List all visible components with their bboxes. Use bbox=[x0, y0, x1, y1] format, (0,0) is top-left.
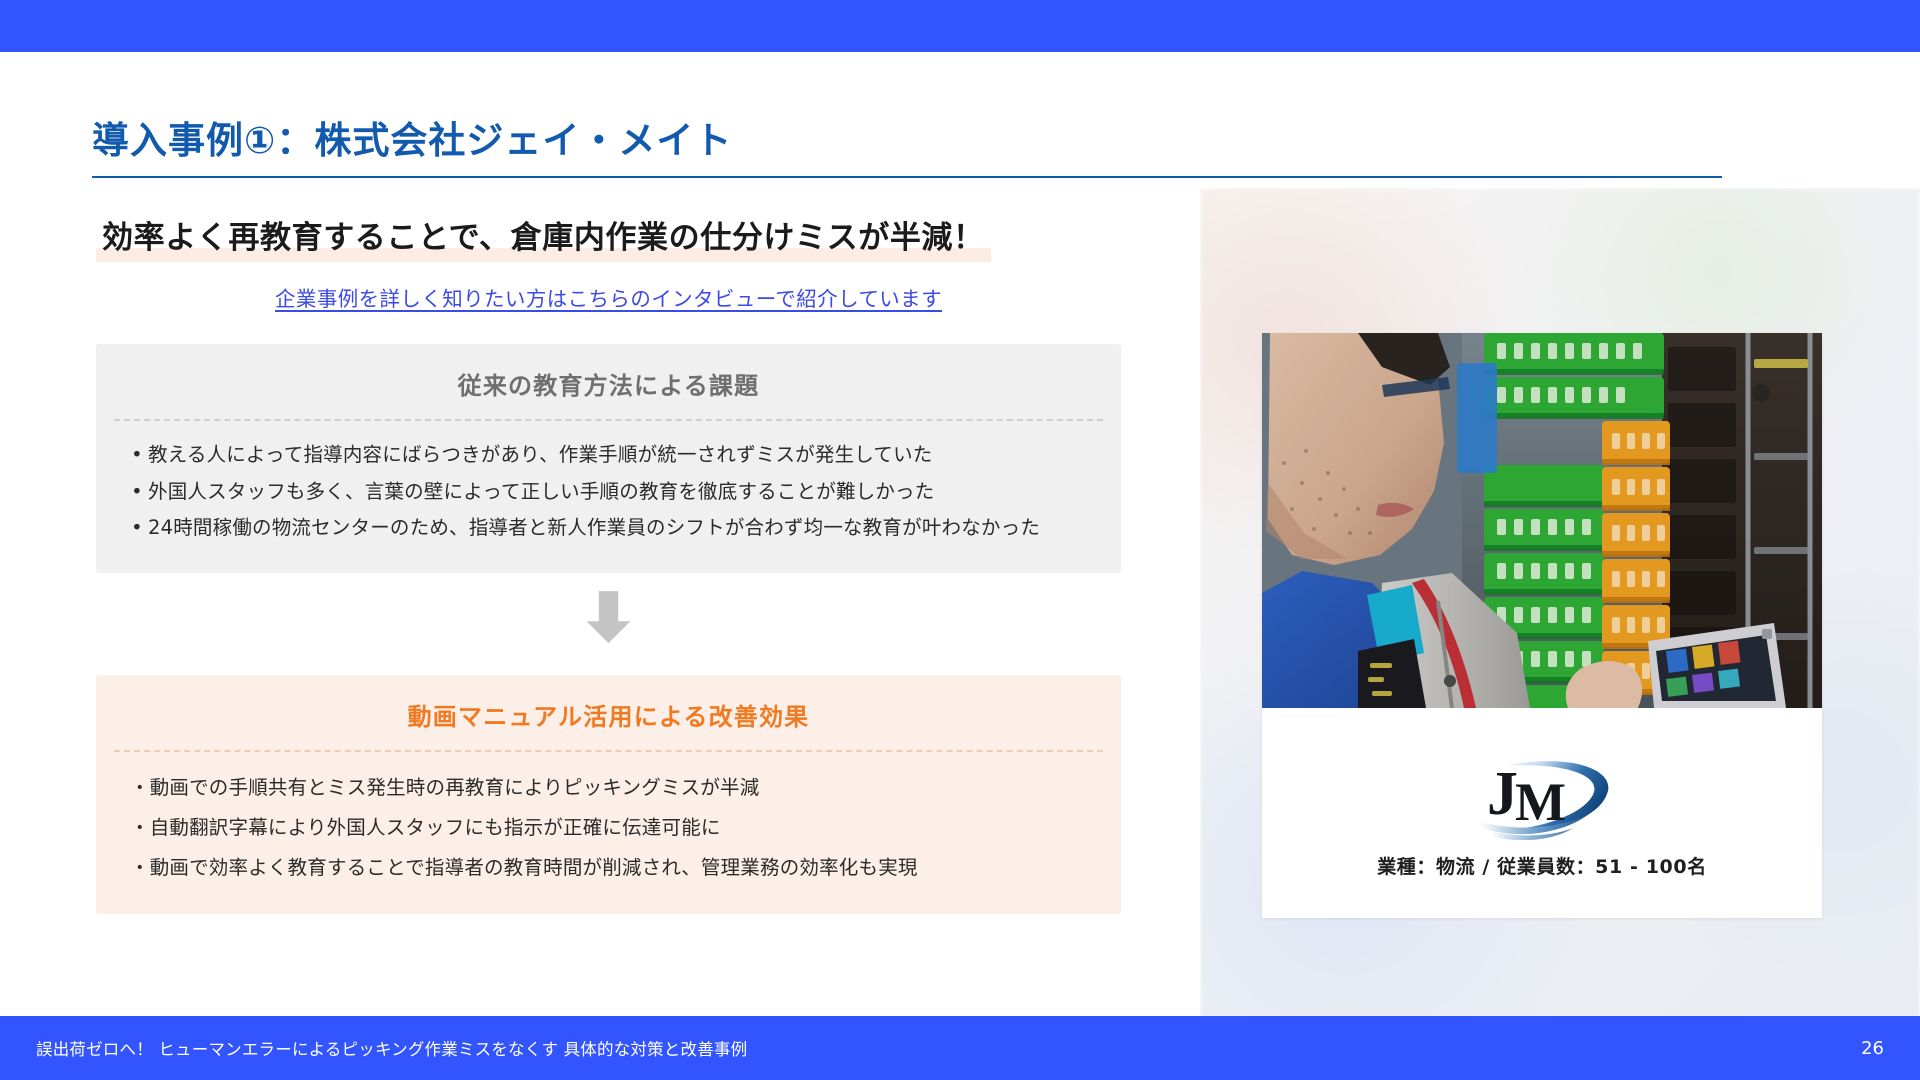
list-item: • 外国人スタッフも多く、言葉の壁によって正しい手順の教育を徹底することが難しか… bbox=[126, 474, 1091, 511]
jm-logo-letter-m: M bbox=[1515, 772, 1566, 832]
jm-logo: J M bbox=[1467, 748, 1617, 840]
company-meta-block: J M 業種：物流 / 従業員数：51 - 100名 bbox=[1262, 708, 1822, 918]
jm-logo-letter-j: J bbox=[1487, 760, 1518, 828]
footer-title: 誤出荷ゼロへ！ ヒューマンエラーによるピッキング作業ミスをなくす 具体的な対策と… bbox=[36, 1036, 747, 1060]
title-underline-rule bbox=[92, 176, 1722, 178]
list-item: • 24時間稼働の物流センターのため、指導者と新人作業員のシフトが合わず均一な教… bbox=[126, 510, 1091, 547]
bullet-marker-icon: • bbox=[126, 439, 148, 472]
headline: 効率よく再教育することで、倉庫内作業の仕分けミスが半減！ bbox=[96, 218, 991, 262]
headline-row: 効率よく再教育することで、倉庫内作業の仕分けミスが半減！ bbox=[96, 218, 1126, 262]
link-row: 企業事例を詳しく知りたい方はこちらのインタビューで紹介しています bbox=[96, 282, 1121, 312]
list-item: • 教える人によって指導内容にばらつきがあり、作業手順が統一されずミスが発生して… bbox=[126, 437, 1091, 474]
problem-panel-divider bbox=[114, 419, 1103, 421]
jm-logo-graphic: J M bbox=[1467, 748, 1617, 840]
list-item-text: 外国人スタッフも多く、言葉の壁によって正しい手順の教育を徹底することが難しかった bbox=[148, 476, 1091, 509]
page-number: 26 bbox=[1861, 1038, 1884, 1059]
top-brand-bar bbox=[0, 0, 1920, 52]
result-bullet-list: ・動画での手順共有とミス発生時の再教育によりピッキングミスが半減 ・自動翻訳字幕… bbox=[96, 768, 1121, 888]
list-item-text: 教える人によって指導内容にばらつきがあり、作業手順が統一されずミスが発生していた bbox=[148, 439, 1091, 472]
warehouse-photo bbox=[1262, 333, 1822, 708]
list-item-text: 24時間稼働の物流センターのため、指導者と新人作業員のシフトが合わず均一な教育が… bbox=[148, 512, 1091, 545]
slide-title-block: 導入事例①：株式会社ジェイ・メイト bbox=[92, 118, 1722, 178]
result-panel-divider bbox=[114, 750, 1103, 752]
footer-bar: 誤出荷ゼロへ！ ヒューマンエラーによるピッキング作業ミスをなくす 具体的な対策と… bbox=[0, 1016, 1920, 1080]
warehouse-photo-graphic bbox=[1262, 333, 1822, 708]
right-media-panel: J M 業種：物流 / 従業員数：51 - 100名 bbox=[1200, 188, 1920, 1028]
problem-bullet-list: • 教える人によって指導内容にばらつきがあり、作業手順が統一されずミスが発生して… bbox=[96, 437, 1121, 547]
page-title: 導入事例①：株式会社ジェイ・メイト bbox=[92, 118, 1722, 176]
case-study-link[interactable]: 企業事例を詳しく知りたい方はこちらのインタビューで紹介しています bbox=[275, 287, 942, 311]
left-content-column: 効率よく再教育することで、倉庫内作業の仕分けミスが半減！ 企業事例を詳しく知りた… bbox=[96, 218, 1126, 914]
arrow-row bbox=[96, 591, 1121, 643]
bullet-marker-icon: • bbox=[126, 512, 148, 545]
down-arrow-icon bbox=[587, 591, 631, 643]
list-item: ・動画で効率よく教育することで指導者の教育時間が削減され、管理業務の効率化も実現 bbox=[126, 848, 1091, 888]
result-panel: 動画マニュアル活用による改善効果 ・動画での手順共有とミス発生時の再教育によりピ… bbox=[96, 675, 1121, 914]
problem-panel: 従来の教育方法による課題 • 教える人によって指導内容にばらつきがあり、作業手順… bbox=[96, 344, 1121, 573]
list-item: ・動画での手順共有とミス発生時の再教育によりピッキングミスが半減 bbox=[126, 768, 1091, 808]
result-panel-heading: 動画マニュアル活用による改善効果 bbox=[96, 697, 1121, 750]
bullet-marker-icon: • bbox=[126, 476, 148, 509]
problem-panel-heading: 従来の教育方法による課題 bbox=[96, 366, 1121, 419]
company-card: J M 業種：物流 / 従業員数：51 - 100名 bbox=[1262, 333, 1822, 918]
list-item: ・自動翻訳字幕により外国人スタッフにも指示が正確に伝達可能に bbox=[126, 808, 1091, 848]
company-meta-text: 業種：物流 / 従業員数：51 - 100名 bbox=[1377, 852, 1707, 879]
